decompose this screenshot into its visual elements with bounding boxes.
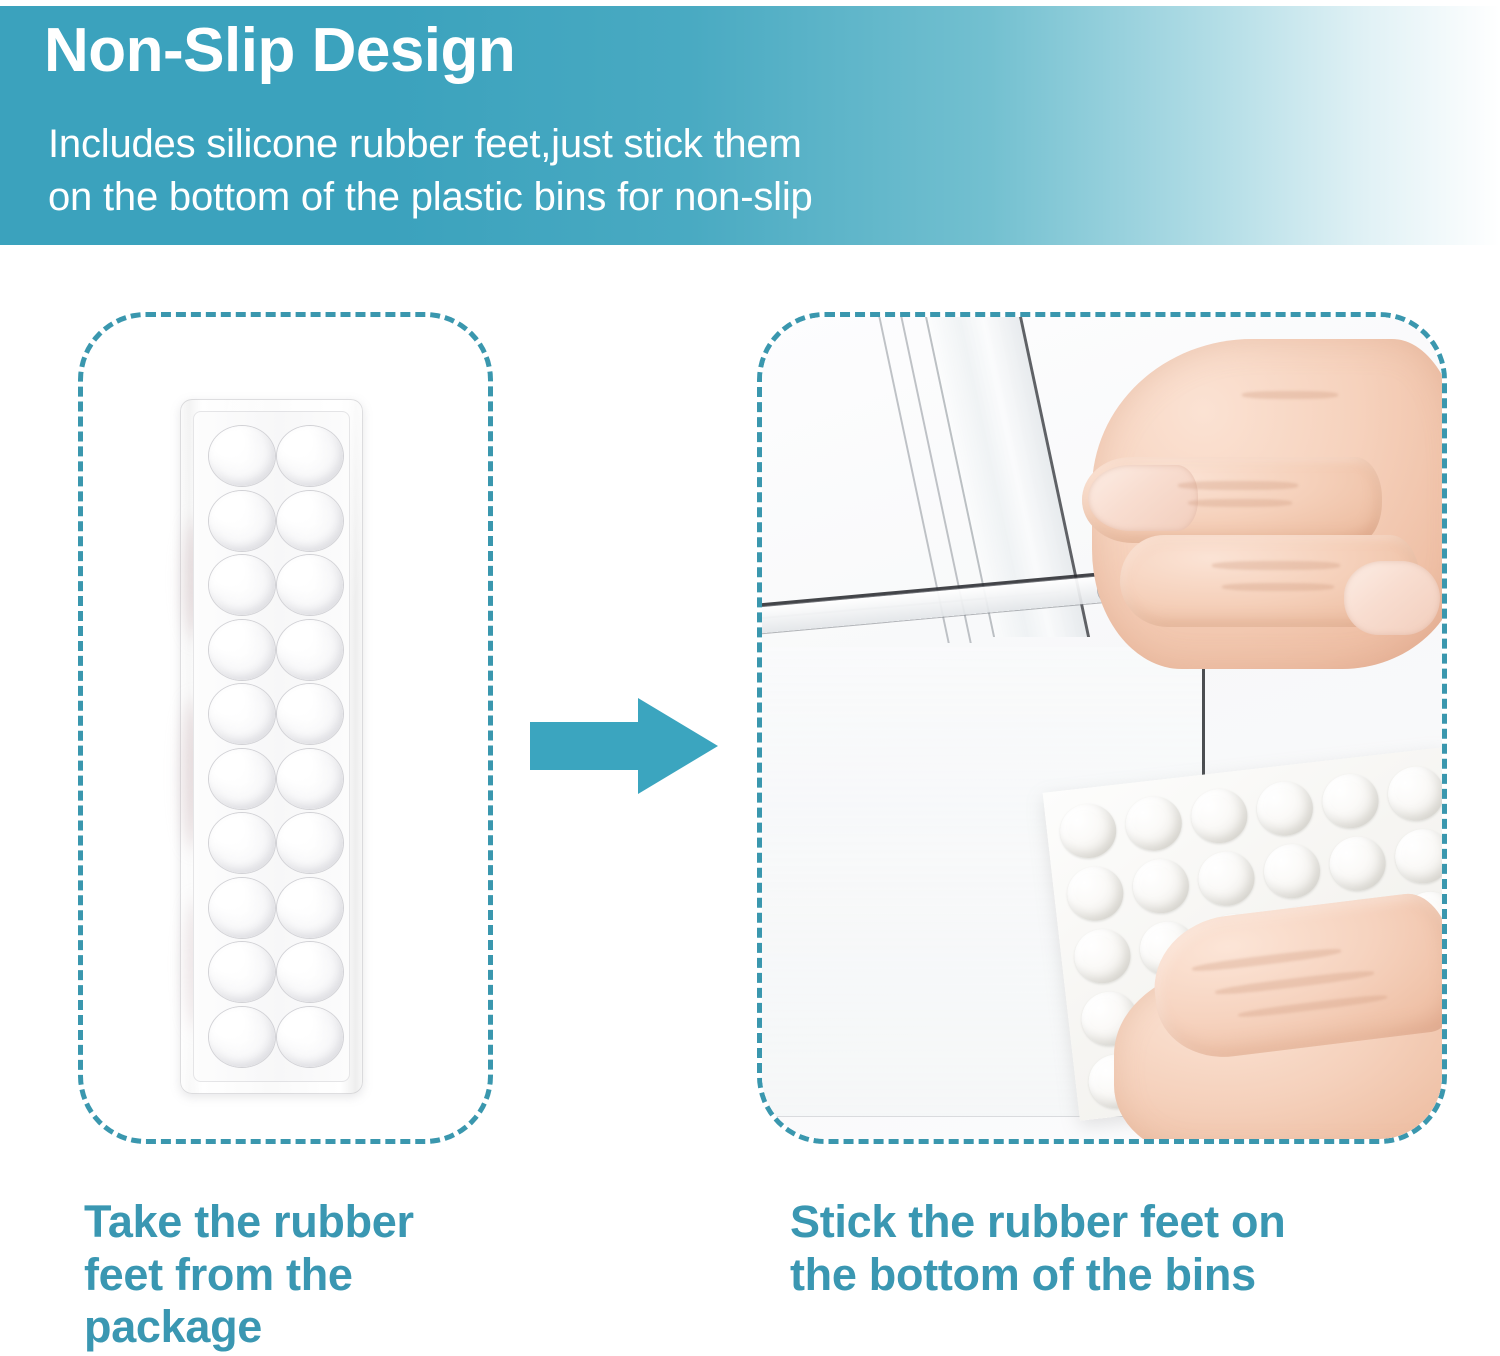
- bin-scene: [762, 317, 1442, 1139]
- fingernail: [1088, 465, 1198, 531]
- fingernail: [1344, 561, 1440, 635]
- step-1-image-panel: [78, 312, 493, 1144]
- rubber-foot-bump: [277, 555, 343, 615]
- step-2-image-panel: [757, 312, 1447, 1144]
- knuckle-crease: [1188, 499, 1292, 507]
- hand-pinching-foot: [1092, 339, 1447, 669]
- step-2-caption: Stick the rubber feet on the bottom of t…: [790, 1196, 1450, 1301]
- rubber-foot-bump: [1072, 926, 1134, 986]
- rubber-foot-bump: [277, 749, 343, 809]
- rubber-foot-bump: [1392, 826, 1447, 886]
- rubber-foot-bump: [209, 426, 275, 486]
- header-subtitle: Includes silicone rubber feet,just stick…: [48, 118, 813, 224]
- rubber-foot-bump: [1261, 841, 1323, 901]
- thumb-crease: [1215, 968, 1375, 996]
- knuckle-crease: [1222, 583, 1334, 591]
- rubber-foot-bump: [209, 749, 275, 809]
- rubber-foot-bump: [1385, 764, 1447, 824]
- rubber-foot-bump: [209, 620, 275, 680]
- rubber-foot-bump: [1065, 864, 1127, 924]
- rubber-foot-bump: [1327, 834, 1389, 894]
- rubber-foot-bump: [277, 426, 343, 486]
- rubber-foot-bump: [277, 813, 343, 873]
- rubber-foot-bump: [209, 1007, 275, 1067]
- knuckle-crease: [1242, 391, 1338, 399]
- rubber-foot-bump: [1058, 801, 1120, 861]
- page-title: Non-Slip Design: [44, 18, 515, 83]
- rubber-foot-bump: [209, 813, 275, 873]
- rubber-foot-bump: [1189, 786, 1251, 846]
- rubber-foot-bump: [1319, 772, 1381, 832]
- rubber-foot-grid: [209, 425, 340, 1068]
- knuckle-crease: [1212, 561, 1340, 570]
- rubber-foot-bump: [1196, 849, 1258, 909]
- rubber-foot-bump: [1130, 856, 1192, 916]
- thumb-crease: [1238, 993, 1388, 1019]
- rubber-foot-bump: [1123, 794, 1185, 854]
- rubber-foot-bump: [209, 942, 275, 1002]
- rubber-foot-bump: [209, 878, 275, 938]
- rubber-foot-bump: [277, 878, 343, 938]
- blister-pack-illustration: [180, 399, 363, 1094]
- header-banner: Non-Slip Design Includes silicone rubber…: [0, 6, 1500, 245]
- rubber-foot-bump: [277, 1007, 343, 1067]
- rubber-foot-bump: [277, 942, 343, 1002]
- rubber-foot-bump: [277, 491, 343, 551]
- rubber-foot-bump: [209, 684, 275, 744]
- knuckle-crease: [1178, 481, 1298, 490]
- thumb-crease: [1192, 946, 1342, 973]
- rubber-foot-bump: [277, 684, 343, 744]
- flow-arrow-icon: [530, 698, 718, 794]
- rubber-foot-bump: [209, 491, 275, 551]
- blister-tray: [193, 411, 350, 1082]
- rubber-foot-bump: [277, 620, 343, 680]
- step-1-caption: Take the rubber feet from the package: [84, 1196, 514, 1354]
- rubber-foot-bump: [1254, 779, 1316, 839]
- rubber-foot-bump: [209, 555, 275, 615]
